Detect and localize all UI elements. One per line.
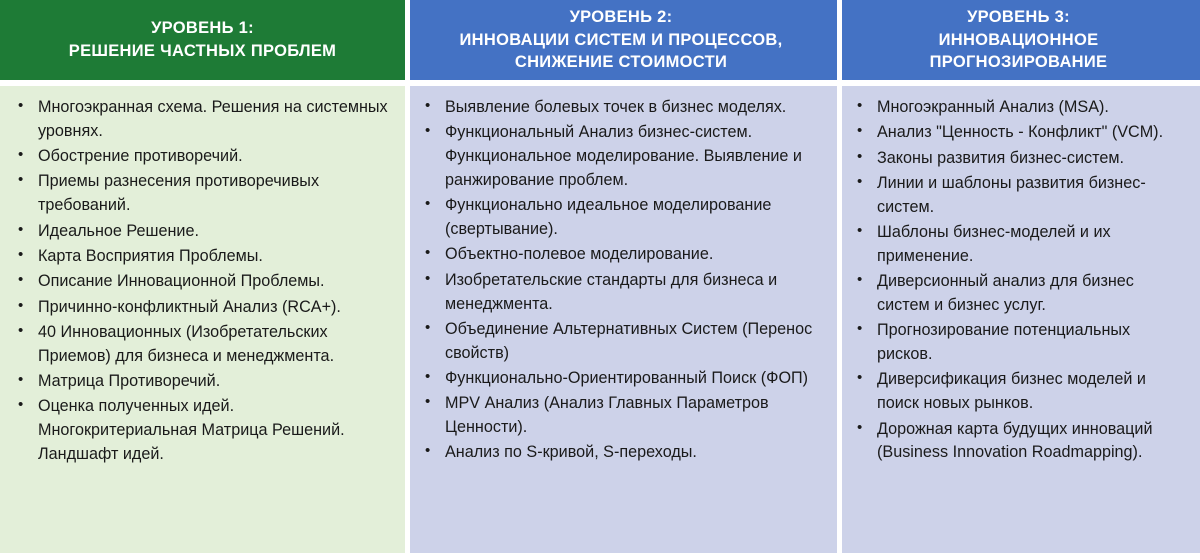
list-item: Многоэкранная схема. Решения на системны… (10, 96, 391, 144)
list-item: Линии и шаблоны развития бизнес-систем. (847, 172, 1186, 220)
list-item: Обострение противоречий. (10, 145, 391, 169)
list-item: Оценка полученных идей. Многокритериальн… (10, 395, 391, 466)
column-level-2: УРОВЕНЬ 2: ИННОВАЦИИ СИСТЕМ И ПРОЦЕССОВ,… (405, 0, 837, 553)
list-item: Законы развития бизнес-систем. (847, 147, 1186, 171)
column-3-header-line-2: ИННОВАЦИОННОЕ (939, 29, 1099, 52)
column-3-header: УРОВЕНЬ 3: ИННОВАЦИОННОЕ ПРОГНОЗИРОВАНИЕ (837, 0, 1200, 80)
list-item: Диверсификация бизнес моделей и поиск но… (847, 368, 1186, 416)
column-2-header-line-2: ИННОВАЦИИ СИСТЕМ И ПРОЦЕССОВ, (459, 29, 782, 52)
column-2-bullet-list: Выявление болевых точек в бизнес моделях… (415, 96, 823, 465)
column-1-header-line-2: РЕШЕНИЕ ЧАСТНЫХ ПРОБЛЕМ (69, 40, 336, 63)
list-item: Приемы разнесения противоречивых требова… (10, 170, 391, 218)
column-3-header-line-3: ПРОГНОЗИРОВАНИЕ (930, 51, 1108, 74)
list-item: Описание Инновационной Проблемы. (10, 270, 391, 294)
list-item: Объектно-полевое моделирование. (415, 243, 823, 267)
list-item: MPV Анализ (Анализ Главных Параметров Це… (415, 392, 823, 440)
column-2-header-line-1: УРОВЕНЬ 2: (570, 6, 673, 29)
list-item: Функциональный Анализ бизнес-систем. Фун… (415, 121, 823, 192)
column-1-body: Многоэкранная схема. Решения на системны… (0, 86, 405, 553)
column-3-bullet-list: Многоэкранный Анализ (MSA). Анализ "Ценн… (847, 96, 1186, 465)
column-3-body: Многоэкранный Анализ (MSA). Анализ "Ценн… (837, 86, 1200, 553)
list-item: Карта Восприятия Проблемы. (10, 245, 391, 269)
column-2-body: Выявление болевых точек в бизнес моделях… (405, 86, 837, 553)
column-level-3: УРОВЕНЬ 3: ИННОВАЦИОННОЕ ПРОГНОЗИРОВАНИЕ… (837, 0, 1200, 553)
column-3-header-line-1: УРОВЕНЬ 3: (967, 6, 1070, 29)
list-item: Анализ по S-кривой, S-переходы. (415, 441, 823, 465)
three-level-comparison-board: УРОВЕНЬ 1: РЕШЕНИЕ ЧАСТНЫХ ПРОБЛЕМ Много… (0, 0, 1200, 560)
list-item: Анализ "Ценность - Конфликт" (VCM). (847, 121, 1186, 145)
list-item: 40 Инновационных (Изобретательских Прием… (10, 321, 391, 369)
list-item: Идеальное Решение. (10, 220, 391, 244)
column-2-header-line-3: СНИЖЕНИЕ СТОИМОСТИ (515, 51, 727, 74)
list-item: Диверсионный анализ для бизнес систем и … (847, 270, 1186, 318)
list-item: Выявление болевых точек в бизнес моделях… (415, 96, 823, 120)
list-item: Дорожная карта будущих инноваций (Busine… (847, 418, 1186, 466)
list-item: Многоэкранный Анализ (MSA). (847, 96, 1186, 120)
column-2-header: УРОВЕНЬ 2: ИННОВАЦИИ СИСТЕМ И ПРОЦЕССОВ,… (405, 0, 837, 80)
list-item: Объединение Альтернативных Систем (Перен… (415, 318, 823, 366)
column-level-1: УРОВЕНЬ 1: РЕШЕНИЕ ЧАСТНЫХ ПРОБЛЕМ Много… (0, 0, 405, 553)
list-item: Изобретательские стандарты для бизнеса и… (415, 269, 823, 317)
list-item: Функционально идеальное моделирование (с… (415, 194, 823, 242)
list-item: Шаблоны бизнес-моделей и их применение. (847, 221, 1186, 269)
column-1-bullet-list: Многоэкранная схема. Решения на системны… (10, 96, 391, 467)
column-1-header-line-1: УРОВЕНЬ 1: (151, 17, 254, 40)
column-1-header: УРОВЕНЬ 1: РЕШЕНИЕ ЧАСТНЫХ ПРОБЛЕМ (0, 0, 405, 80)
list-item: Функционально-Ориентированный Поиск (ФОП… (415, 367, 823, 391)
list-item: Прогнозирование потенциальных рисков. (847, 319, 1186, 367)
list-item: Матрица Противоречий. (10, 370, 391, 394)
list-item: Причинно-конфликтный Анализ (RCA+). (10, 296, 391, 320)
